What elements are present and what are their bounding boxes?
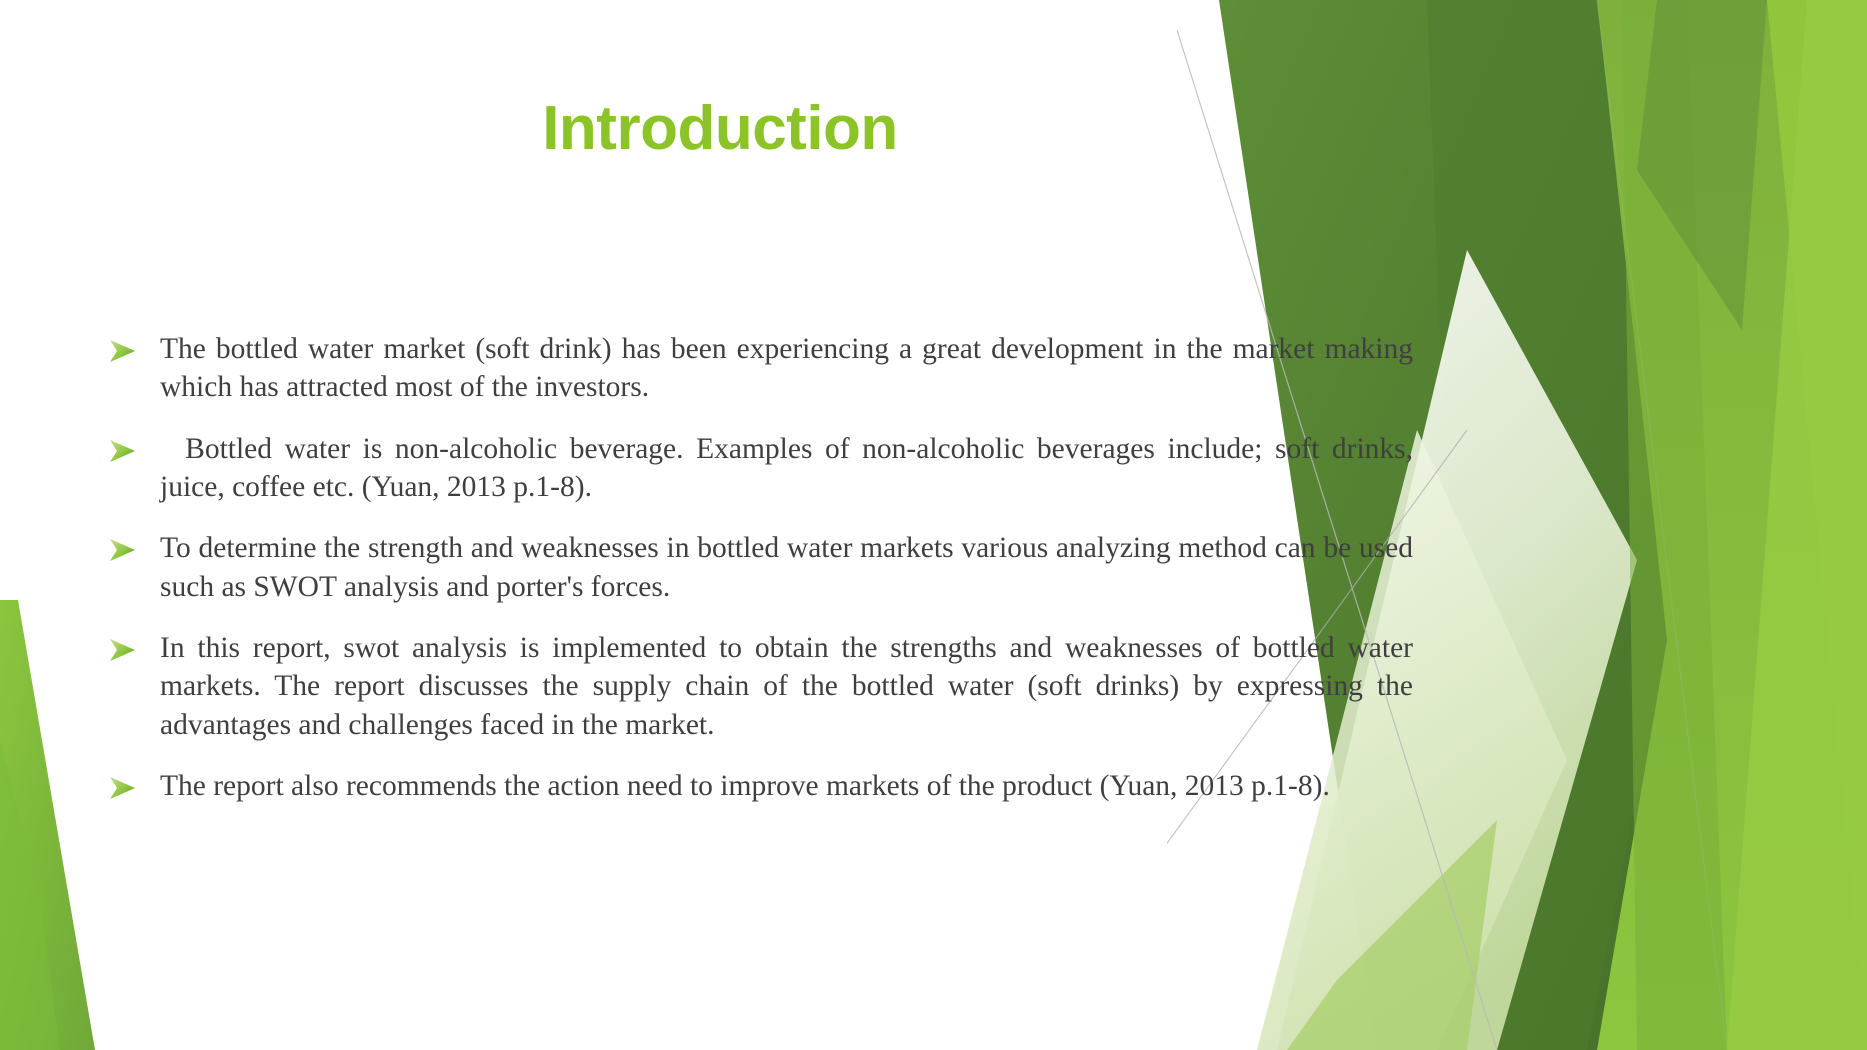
green-arrowhead-bullet-icon [108,430,160,464]
green-arrowhead-bullet-icon [108,767,160,801]
slide-title: Introduction [0,96,1440,161]
bullet-item: The bottled water market (soft drink) ha… [108,330,1413,407]
bullet-text: To determine the strength and weaknesses… [160,529,1413,606]
presentation-slide: Introduction The bottled water market (s… [0,0,1867,1050]
green-arrowhead-bullet-icon [108,330,160,364]
bullet-item: Bottled water is non-alcoholic beverage.… [108,430,1413,507]
green-arrowhead-bullet-icon [108,529,160,563]
bullet-text: Bottled water is non-alcoholic beverage.… [160,430,1413,507]
green-arrowhead-bullet-icon [108,629,160,663]
bullet-text: The report also recommends the action ne… [160,767,1413,805]
bullet-text: In this report, swot analysis is impleme… [160,629,1413,744]
bullet-item: To determine the strength and weaknesses… [108,529,1413,606]
bullet-text: The bottled water market (soft drink) ha… [160,330,1413,407]
slide-body-bullet-list: The bottled water market (soft drink) ha… [108,330,1413,828]
bullet-item: The report also recommends the action ne… [108,767,1413,805]
bullet-item: In this report, swot analysis is impleme… [108,629,1413,744]
